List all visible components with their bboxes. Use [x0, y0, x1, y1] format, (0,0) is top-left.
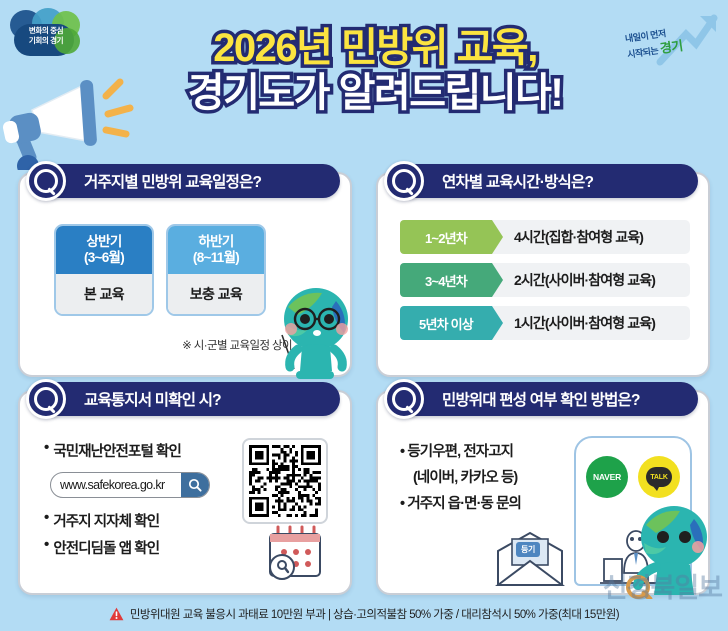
question-mark-icon — [384, 379, 424, 419]
naver-label: NAVER — [593, 472, 621, 482]
year-tag: 1~2년차 — [400, 220, 492, 254]
qr-code-canvas — [249, 445, 321, 517]
search-icon — [188, 478, 202, 492]
card-title: 민방위대 편성 여부 확인 방법은? — [442, 388, 640, 410]
footer-warning-bar: 민방위대원 교육 불응시 과태료 10만원 부과 | 상습·고의적불참 50% … — [0, 597, 728, 631]
period-label: 하반기 — [198, 234, 233, 250]
list-item: • 국민재난안전포털 확인 — [44, 440, 244, 461]
card-hours-by-year: 연차별 교육시간·방식은? 1~2년차 4시간(집합·참여형 교육) 3~4년차… — [376, 172, 710, 377]
bullet-text: (네이버, 카카오 등) — [413, 470, 517, 486]
warning-triangle-icon — [109, 607, 124, 621]
list-item: • 안전디딤돌 앱 확인 — [44, 537, 244, 558]
card-header: 거주지별 민방위 교육일정은? — [40, 164, 340, 198]
bullet-text: 거주지 읍·면·동 문의 — [407, 496, 521, 512]
card-body: 1~2년차 4시간(집합·참여형 교육) 3~4년차 2시간(사이버·참여형 교… — [378, 208, 708, 375]
card-title: 연차별 교육시간·방식은? — [442, 170, 593, 192]
year-description: 4시간(집합·참여형 교육) — [492, 220, 690, 254]
card-body: • 국민재난안전포털 확인 www.safekorea.go.kr • 거주지 … — [20, 426, 350, 593]
gyeonggi-arrow-logo: 내일이 먼저 시작되는 경기 — [624, 12, 720, 68]
period-box-group: 상반기 (3~6월) 본 교육 하반기 (8~11월) 보충 교육 — [54, 224, 266, 316]
period-months: (3~6월) — [84, 250, 124, 266]
period-box-first-half: 상반기 (3~6월) 본 교육 — [54, 224, 154, 316]
bullet-dot-icon: • — [400, 496, 404, 512]
megaphone-icon — [2, 58, 138, 170]
mascot-character-icon — [622, 495, 718, 599]
footer-warning-text: 민방위대원 교육 불응시 과태료 10만원 부과 | 상습·고의적불참 50% … — [130, 606, 619, 622]
envelope-icon — [490, 531, 570, 589]
title-line-1: 2026년 민방위 교육, — [130, 26, 620, 71]
card-header: 교육통지서 미확인 시? — [40, 382, 340, 416]
question-mark-icon — [384, 161, 424, 201]
url-input[interactable]: www.safekorea.go.kr — [51, 478, 181, 492]
card-schedule-by-residence: 거주지별 민방위 교육일정은? 상반기 (3~6월) 본 교육 하반기 (8~1… — [18, 172, 352, 377]
year-row: 3~4년차 2시간(사이버·참여형 교육) — [400, 263, 690, 297]
year-tag-label: 5년차 이상 — [419, 314, 473, 333]
header-banner: 변화의 중심 기회의 경기 내일이 먼저 시작되는 경기 — [0, 0, 728, 168]
period-box-head: 하반기 (8~11월) — [168, 226, 264, 274]
year-row: 5년차 이상 1시간(사이버·참여형 교육) — [400, 306, 690, 340]
page-title: 2026년 민방위 교육, 경기도가 알려드립니다! — [130, 26, 620, 116]
bullet-text: 등기우편, 전자고지 — [407, 444, 513, 460]
card-body: • 등기우편, 전자고지 (네이버, 카카오 등) • 거주지 읍·면·동 문의… — [378, 426, 708, 593]
question-mark-icon — [26, 161, 66, 201]
bullet-text: 안전디딤돌 앱 확인 — [53, 537, 159, 558]
period-type: 본 교육 — [56, 274, 152, 314]
qr-code[interactable] — [242, 438, 328, 524]
question-mark-icon — [26, 379, 66, 419]
bullet-text: 거주지 지자체 확인 — [53, 510, 159, 531]
mascot-character-icon — [274, 277, 358, 379]
naver-icon[interactable]: NAVER — [586, 456, 628, 498]
kakaotalk-icon[interactable]: TALK — [638, 456, 680, 498]
bullet-text: 국민재난안전포털 확인 — [53, 440, 181, 461]
year-tag: 5년차 이상 — [400, 306, 492, 340]
bullet-dot-icon: • — [44, 510, 48, 526]
period-label: 상반기 — [86, 234, 121, 250]
app-icon-group: NAVER TALK — [586, 456, 680, 498]
logo-left-text: 변화의 중심 기회의 경기 — [16, 26, 76, 46]
period-box-head: 상반기 (3~6월) — [56, 226, 152, 274]
year-row: 1~2년차 4시간(집합·참여형 교육) — [400, 220, 690, 254]
bullet-list: • 국민재난안전포털 확인 — [44, 440, 244, 467]
period-box-second-half: 하반기 (8~11월) 보충 교육 — [166, 224, 266, 316]
year-description: 2시간(사이버·참여형 교육) — [492, 263, 690, 297]
card-notice-not-received: 교육통지서 미확인 시? • 국민재난안전포털 확인 www.safekorea… — [18, 390, 352, 595]
title-line-2: 경기도가 알려드립니다! — [130, 71, 620, 116]
bullet-list-secondary: • 거주지 지자체 확인 • 안전디딤돌 앱 확인 — [44, 510, 244, 564]
card-body: 상반기 (3~6월) 본 교육 하반기 (8~11월) 보충 교육 ※ 시·군별… — [20, 208, 350, 375]
registered-mail-icon: 등기 — [490, 531, 570, 589]
logo-left-line1: 변화의 중심 — [16, 26, 76, 36]
gyeonggi-blob-logo: 변화의 중심 기회의 경기 — [8, 8, 82, 58]
logo-left-line2: 기회의 경기 — [16, 36, 76, 46]
year-description: 1시간(사이버·참여형 교육) — [492, 306, 690, 340]
list-item: • 거주지 지자체 확인 — [44, 510, 244, 531]
calendar-search-icon — [262, 525, 326, 583]
card-title: 거주지별 민방위 교육일정은? — [84, 170, 261, 192]
period-months: (8~11월) — [193, 250, 239, 266]
card-check-membership: 민방위대 편성 여부 확인 방법은? • 등기우편, 전자고지 (네이버, 카카… — [376, 390, 710, 595]
year-tag: 3~4년차 — [400, 263, 492, 297]
search-button[interactable] — [181, 473, 209, 497]
card-header: 연차별 교육시간·방식은? — [398, 164, 698, 198]
year-row-list: 1~2년차 4시간(집합·참여형 교육) 3~4년차 2시간(사이버·참여형 교… — [400, 220, 690, 349]
safekorea-url-field[interactable]: www.safekorea.go.kr — [50, 472, 210, 498]
bullet-dot-icon: • — [400, 444, 404, 460]
logo-right-highlight: 경기 — [659, 38, 684, 56]
year-tag-label: 3~4년차 — [425, 271, 467, 290]
period-type: 보충 교육 — [168, 274, 264, 314]
bullet-dot-icon: • — [44, 440, 48, 456]
kakaotalk-label: TALK — [646, 467, 672, 487]
card-header: 민방위대 편성 여부 확인 방법은? — [398, 382, 698, 416]
bullet-dot-icon: • — [44, 537, 48, 553]
envelope-stamp-label: 등기 — [516, 542, 540, 557]
year-tag-label: 1~2년차 — [425, 228, 467, 247]
card-title: 교육통지서 미확인 시? — [84, 388, 221, 410]
